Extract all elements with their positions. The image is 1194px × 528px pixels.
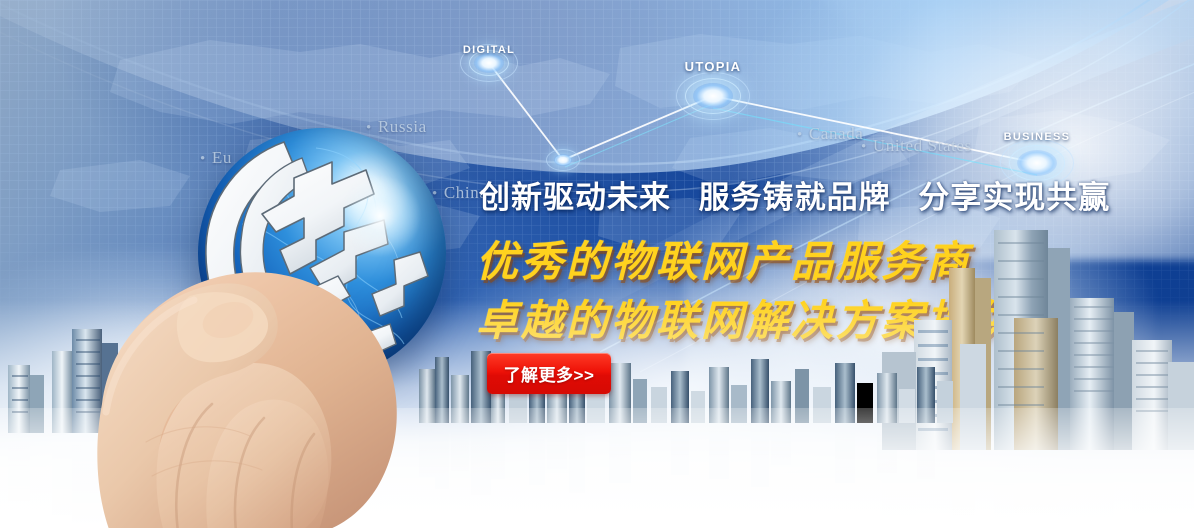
network-node-label-digital: DIGITAL xyxy=(463,44,515,56)
headline-segment-2: 服务铸就品牌 xyxy=(699,180,891,215)
headline-primary: 创新驱动未来 服务铸就品牌 分享实现共赢 xyxy=(479,172,1110,217)
node-core-glow xyxy=(693,83,733,109)
node-core-glow xyxy=(554,154,572,166)
map-label-united-states: United States xyxy=(861,136,972,156)
node-core-glow xyxy=(474,53,504,73)
headline-segment-3: 分享实现共赢 xyxy=(918,180,1110,215)
map-label-canada: Canada xyxy=(797,124,863,144)
hand-holding-globe xyxy=(60,112,490,528)
network-node-utopia[interactable] xyxy=(676,72,750,120)
network-node-label-utopia: UTOPIA xyxy=(685,59,742,74)
network-node-relay[interactable] xyxy=(546,149,580,171)
hero-banner: DIGITAL UTOPIA BUSINESS Eu Russia China … xyxy=(0,0,1194,528)
learn-more-button[interactable]: 了解更多>> xyxy=(487,353,611,394)
headline-segment-1: 创新驱动未来 xyxy=(479,180,671,215)
tagline-line-1: 优秀的物联网产品服务商 xyxy=(476,228,971,289)
network-node-label-business: BUSINESS xyxy=(1004,131,1071,143)
